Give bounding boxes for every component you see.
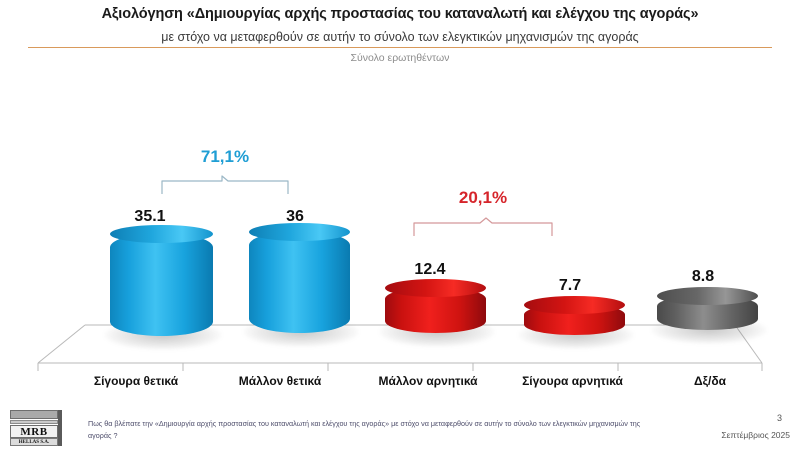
header-divider <box>28 47 772 48</box>
category-label-2: Μάλλον θετικά <box>200 374 360 388</box>
bar-top-ellipse-4 <box>524 296 625 314</box>
logo-wordmark: MRB <box>10 425 58 438</box>
bar-cylinder-4[interactable] <box>524 304 625 335</box>
logo-block-top <box>10 410 58 419</box>
bar-top-ellipse-3 <box>385 279 486 297</box>
survey-date: Σεπτέμβριος 2025 <box>721 430 790 440</box>
negative-bracket-shape <box>412 215 554 237</box>
bar-body-1 <box>110 233 213 336</box>
logo-subtitle: HELLAS S.A. <box>10 438 58 446</box>
bar-value-5: 8.8 <box>648 268 758 286</box>
positive-bracket-label: 71,1% <box>160 147 290 167</box>
page-title: Αξιολόγηση «Δημιουργίας αρχής προστασίας… <box>0 6 800 22</box>
negative-bracket-label: 20,1% <box>412 188 554 208</box>
category-label-5: Δξ/δα <box>630 374 790 388</box>
bar-cylinder-5[interactable] <box>657 295 758 330</box>
mrb-logo: MRB HELLAS S.A. <box>8 409 66 445</box>
question-footnote: Πως θα βλέπατε την «Δημιουργία αρχής προ… <box>88 418 648 442</box>
page-number: 3 <box>777 413 782 423</box>
bar-cylinder-2[interactable] <box>249 231 350 333</box>
bar-value-3: 12.4 <box>375 261 485 279</box>
footer-divider <box>0 403 800 404</box>
bar-value-1: 35.1 <box>95 208 205 226</box>
bar-cylinder-1[interactable] <box>110 233 213 336</box>
logo-side-bar <box>58 410 62 446</box>
bar-cylinder-3[interactable] <box>385 287 486 333</box>
positive-bracket-shape <box>160 173 290 195</box>
sample-base-note: Σύνολο ερωτηθέντων <box>0 52 800 64</box>
bar-value-4: 7.7 <box>515 277 625 295</box>
bar-top-ellipse-5 <box>657 287 758 305</box>
logo-block-mid <box>10 420 58 424</box>
page-subtitle: με στόχο να μεταφερθούν σε αυτήν το σύνο… <box>0 30 800 44</box>
chart-plot-area: 71,1% 20,1% 35.1 36 12.4 7.7 <box>0 75 800 385</box>
slide: Αξιολόγηση «Δημιουργίας αρχής προστασίας… <box>0 0 800 450</box>
bar-body-2 <box>249 231 350 333</box>
category-label-1: Σίγουρα θετικά <box>56 374 216 388</box>
bar-top-ellipse-1 <box>110 225 213 243</box>
bar-top-ellipse-2 <box>249 223 350 241</box>
